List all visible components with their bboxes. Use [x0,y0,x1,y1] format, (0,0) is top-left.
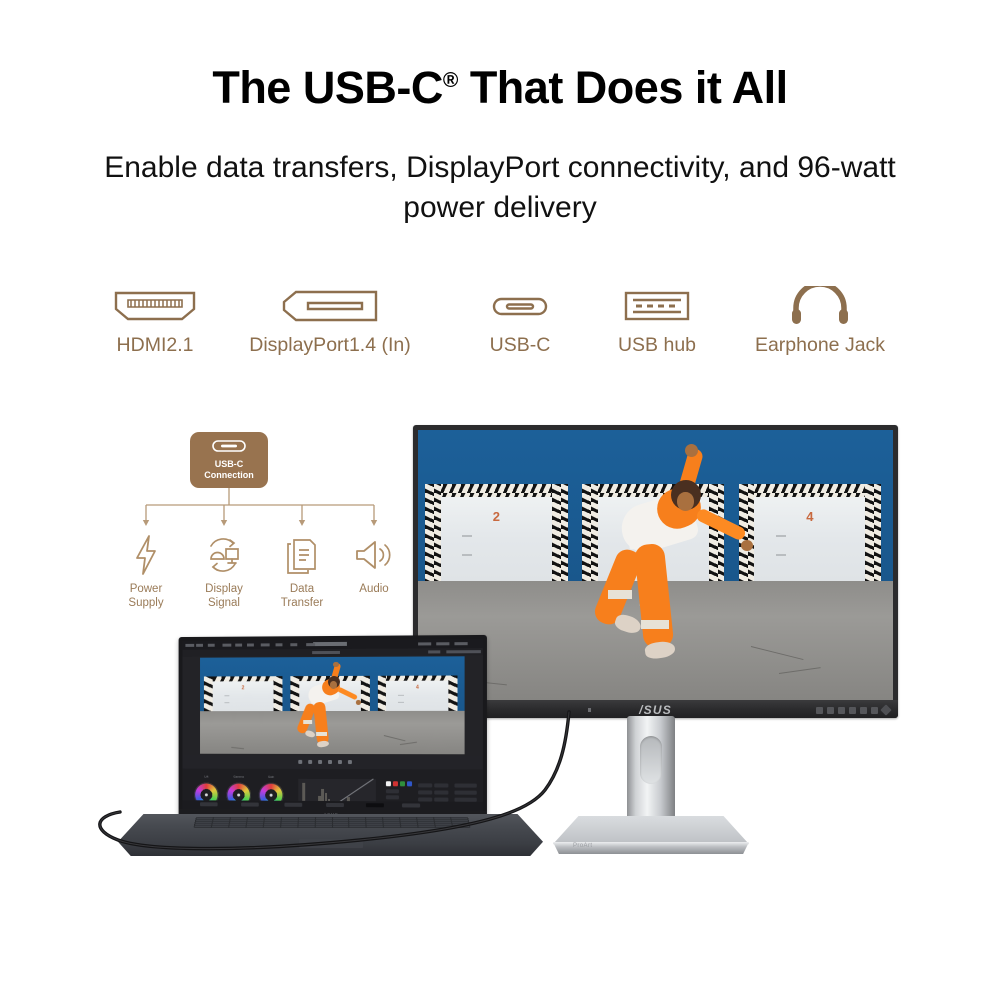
display-sync-icon [202,530,246,576]
port-label: USB hub [618,334,696,357]
earphone-jack-icon [789,283,851,329]
documents-icon [284,530,320,576]
editor-tool-button[interactable] [338,760,342,764]
garage-door: 2 [204,677,282,712]
keyboard-key[interactable] [453,826,470,828]
chevron-stripe-left [582,484,598,581]
dancer-leg-right [313,701,329,744]
color-swatch[interactable] [400,781,405,786]
feature-label: Data Transfer [281,582,323,611]
editor-tool-button[interactable] [318,760,322,764]
chevron-stripe-right [274,677,283,712]
editor-page-tab[interactable] [326,803,344,807]
chevron-stripe-right [865,484,881,581]
cable-management-hole [640,736,662,784]
keyboard-key[interactable] [333,826,349,828]
keyboard-key[interactable] [229,826,245,828]
garage-door-number: 2 [242,686,245,692]
color-swatch[interactable] [386,781,391,786]
keyboard-key[interactable] [315,826,331,828]
power-led [588,708,591,712]
editor-menu-item[interactable] [247,643,254,646]
laptop-trackpad[interactable] [299,839,363,848]
osd-button[interactable] [871,707,878,714]
joystick-icon[interactable] [880,704,891,715]
keyboard-key[interactable] [384,826,400,828]
feature-label: Display Signal [205,582,243,611]
asus-brand-logo: /SUS [639,703,672,717]
port-list: HDMI2.1 DisplayPort1.4 (In) USB-C [60,283,940,373]
editor-tool-button[interactable] [348,760,352,764]
osd-button[interactable] [816,707,823,714]
port-item-displayport: DisplayPort1.4 (In) [230,283,430,357]
chevron-stripe-right [449,676,458,711]
control-chip[interactable] [434,790,448,794]
editor-menu-item[interactable] [222,644,231,647]
port-label: DisplayPort1.4 (In) [249,334,410,357]
keyboard-key[interactable] [350,826,366,828]
dancer-reflective-band-1 [608,590,632,599]
osd-button-row[interactable] [816,706,890,714]
laptop-screen: 24 LiftGammaGain [183,639,483,811]
door-handle [462,554,472,556]
adjustment-chip[interactable] [386,789,399,793]
osd-button[interactable] [838,707,845,714]
editor-page-tab[interactable] [284,803,302,807]
feature-display-signal: Display Signal [179,530,269,611]
editor-menu-item[interactable] [261,643,270,646]
editor-page-tab[interactable] [241,802,259,806]
dancer-reflective-band-2 [641,620,669,629]
usb-hub-port-icon [623,283,691,329]
color-swatch[interactable] [393,781,398,786]
editor-tool-button[interactable] [308,760,312,764]
page-title-text-2: That Does it All [458,62,788,113]
editor-tool-button[interactable] [328,760,332,764]
feature-label-line1: Power [128,582,163,596]
dancer-hand-2 [356,700,361,704]
control-chip[interactable] [434,783,448,787]
chevron-stripe-left [377,676,386,711]
feature-label-line1: Audio [359,582,388,596]
garage-door-number: 2 [493,509,500,524]
product-feature-graphic: The USB-C® That Does it All Enable data … [0,0,1000,1000]
editor-menu-item[interactable] [196,644,203,647]
dancer-shoe-left [613,612,643,635]
keyboard-key[interactable] [281,826,297,828]
chevron-stripe-top [425,484,568,497]
speaker-icon [353,530,395,576]
page-subtitle: Enable data transfers, DisplayPort conne… [60,148,940,227]
inspector-chip[interactable] [454,791,476,795]
editor-page-tab[interactable] [366,803,384,807]
feature-label-line2: Transfer [281,596,323,610]
editor-menu-item[interactable] [208,644,215,647]
dancer-figure [599,444,789,694]
keyboard-key[interactable] [436,826,453,828]
editor-menu-item[interactable] [185,644,194,647]
dancer-shoe-right [317,740,330,748]
chevron-stripe-right [552,484,568,581]
color-swatch[interactable] [407,781,412,786]
laptop: 24 LiftGammaGain ASUS [118,636,543,868]
feature-audio: Audio [329,530,419,596]
hdmi-port-icon [112,283,198,329]
garage-door: 4 [377,676,457,711]
laptop-keyboard[interactable] [193,817,470,828]
registered-trademark-symbol: ® [443,69,458,92]
dancer-hand-2 [741,540,753,551]
dancer-reflective-band-1 [303,720,313,724]
editor-tool-button[interactable] [298,760,302,764]
port-item-hdmi: HDMI2.1 [55,283,255,357]
editor-menu-item[interactable] [290,643,297,646]
keyboard-key[interactable] [401,826,417,828]
usb-c-port-icon [491,283,549,329]
feature-label: Audio [359,582,388,596]
feature-label: Power Supply [128,582,163,611]
editor-viewer: 24 [200,656,464,754]
page-title: The USB-C® That Does it All [0,62,1000,114]
feature-label-line2: Supply [128,596,163,610]
dancer-hand [333,662,338,667]
chevron-stripe-left [204,677,213,712]
dancer-figure [299,662,375,755]
dancer-face [677,492,694,511]
editor-title-chip [313,642,347,646]
keyboard-key[interactable] [264,826,280,828]
editor-subtoolbar-button[interactable] [446,650,458,653]
keyboard-key[interactable] [212,826,229,828]
editor-toolbar-button[interactable] [454,642,467,645]
port-item-earphone-jack: Earphone Jack [720,283,920,357]
feature-label-line2: Signal [205,596,243,610]
color-wheel-label: Gain [259,775,284,779]
editor-tool-row[interactable] [183,756,483,770]
chevron-stripe-left [290,677,299,712]
monitor-stand-base: ProArt [553,816,749,854]
feature-label-line1: Display [205,582,243,596]
garage-door-number: 4 [416,685,419,691]
lightning-bolt-icon [133,530,159,576]
color-wheels-panel[interactable]: LiftGammaGain [183,769,483,802]
control-chip[interactable] [418,783,432,787]
door-handle [462,535,472,537]
editor-page-tab[interactable] [402,803,420,807]
osd-button[interactable] [827,707,834,714]
dancer-extended-arm [337,687,358,701]
garage-door: 2 [425,484,568,581]
editor-menu-item[interactable] [276,643,283,646]
color-wheel-label: Lift [194,775,218,779]
editor-toolbar-button[interactable] [436,642,449,645]
dancer-extended-arm [694,507,746,541]
garage-door-number: 4 [806,509,813,524]
keyboard-key[interactable] [419,826,435,828]
feature-power-supply: Power Supply [101,530,191,611]
door-handle [398,694,404,695]
keyboard-key[interactable] [298,826,314,828]
laptop-lid: 24 LiftGammaGain ASUS [179,635,487,821]
page-title-text: The USB-C [212,62,443,113]
editor-menu-item[interactable] [306,643,315,646]
monitor-stand-neck [627,716,675,824]
door-handle [224,695,229,696]
port-label: HDMI2.1 [117,334,194,357]
dancer-leg-right [633,542,674,649]
feature-label-line1: Data [281,582,323,596]
editor-subtoolbar-button[interactable] [469,650,481,653]
chevron-stripe-top [204,677,282,682]
usb-c-connection-diagram: USB-C Connection [112,432,412,628]
editor-page-tab[interactable] [200,802,218,806]
inspector-chip[interactable] [454,784,476,788]
keyboard-key[interactable] [367,826,383,828]
photo-dancer-scene-preview: 24 [200,656,464,754]
editor-menu-item[interactable] [235,644,242,647]
dancer-hand [685,444,698,457]
proart-base-label: ProArt [573,843,592,849]
dancer-reflective-band-2 [316,732,327,736]
osd-button[interactable] [860,707,867,714]
osd-button[interactable] [849,707,856,714]
keyboard-key[interactable] [246,826,262,828]
keyboard-row [195,826,470,828]
chevron-stripe-left [425,484,441,581]
keyboard-key[interactable] [195,826,212,828]
chevron-stripe-top [377,676,457,681]
port-label: USB-C [490,334,551,357]
editor-subtoolbar-button[interactable] [428,650,440,653]
color-wheel-label: Gamma [226,775,251,779]
displayport-port-icon [280,283,380,329]
dancer-face [330,681,337,689]
door-handle [224,702,229,703]
editor-clip-name [312,651,340,654]
editor-toolbar-button[interactable] [418,642,431,645]
color-grading-editor: 24 LiftGammaGain [183,639,483,811]
control-chip[interactable] [418,790,432,794]
adjustment-chip[interactable] [386,795,399,799]
port-label: Earphone Jack [755,334,885,357]
door-handle [398,701,404,702]
